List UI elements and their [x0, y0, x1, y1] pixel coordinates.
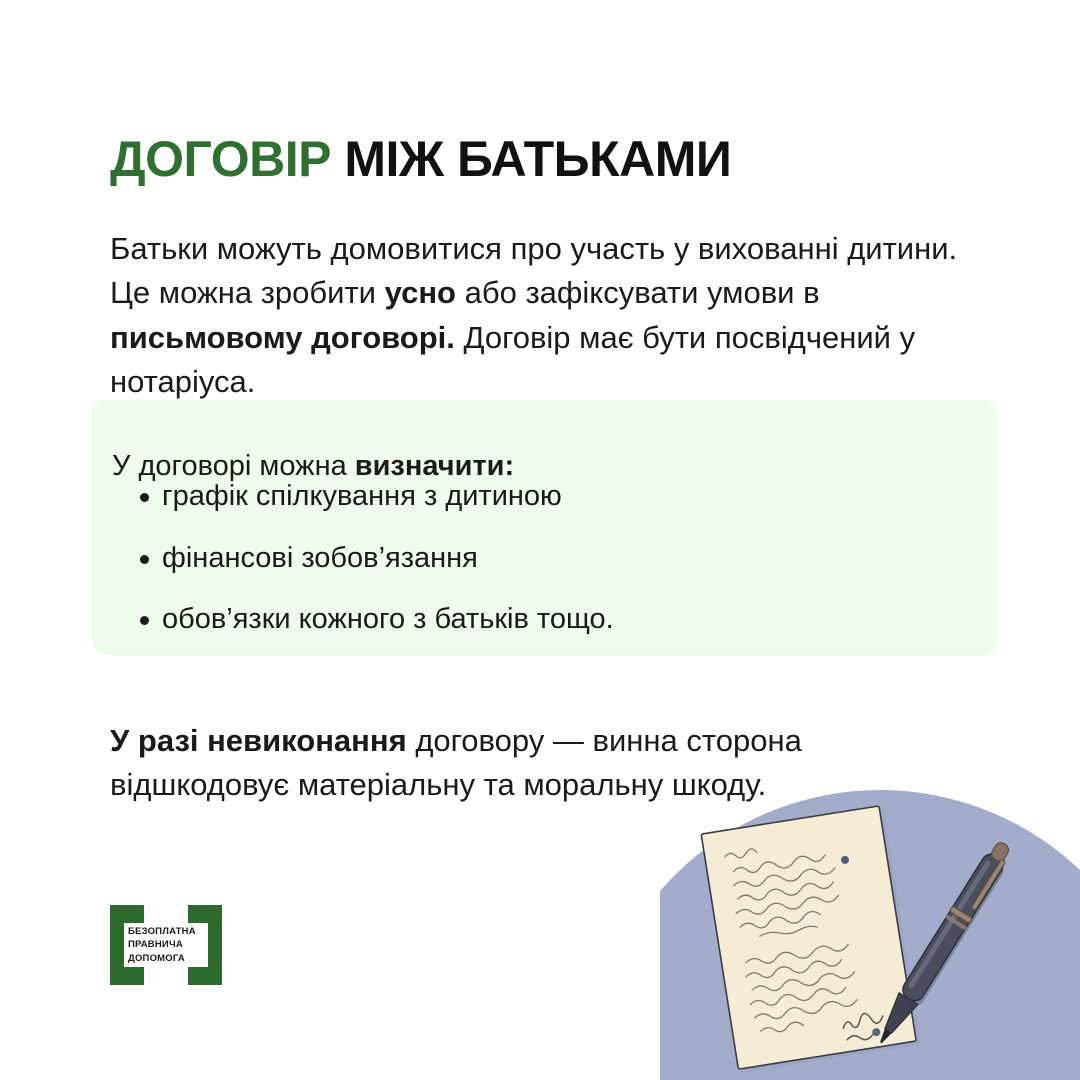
page-title: ДОГОВІР МІЖ БАТЬКАМИ: [110, 132, 731, 187]
list-item: обов’язки кожного з батьків тощо.: [114, 601, 614, 639]
intro-text-2: або зафіксувати умови в: [456, 275, 820, 310]
callout-box: У договорі можна визначити: графік спілк…: [92, 400, 998, 655]
callout-list: графік спілкування з дитиною фінансові з…: [114, 478, 614, 639]
logo-text-line-3: ДОПОМОГА: [128, 952, 226, 965]
logo-text-line-2: ПРАВНИЧА: [128, 938, 226, 951]
illustration-letter-and-pen: [660, 760, 1080, 1080]
page-title-accent: ДОГОВІР: [110, 131, 331, 187]
intro-paragraph: Батьки можуть домовитися про участь у ви…: [110, 227, 990, 404]
page-title-rest: МІЖ БАТЬКАМИ: [331, 131, 731, 187]
list-item: фінансові зобов’язання: [114, 540, 614, 578]
closing-bold: У разі невиконання: [110, 723, 407, 758]
list-item: графік спілкування з дитиною: [114, 478, 614, 516]
intro-bold-written-contract: письмовому договорі.: [110, 320, 455, 355]
intro-bold-orally: усно: [385, 275, 456, 310]
infographic-page: ДОГОВІР МІЖ БАТЬКАМИ Батьки можуть домов…: [0, 0, 1080, 1080]
logo-text-line-1: БЕЗОПЛАТНА: [128, 925, 226, 938]
logo: БЕЗОПЛАТНА ПРАВНИЧА ДОПОМОГА: [110, 905, 222, 985]
logo-text: БЕЗОПЛАТНА ПРАВНИЧА ДОПОМОГА: [128, 925, 226, 965]
